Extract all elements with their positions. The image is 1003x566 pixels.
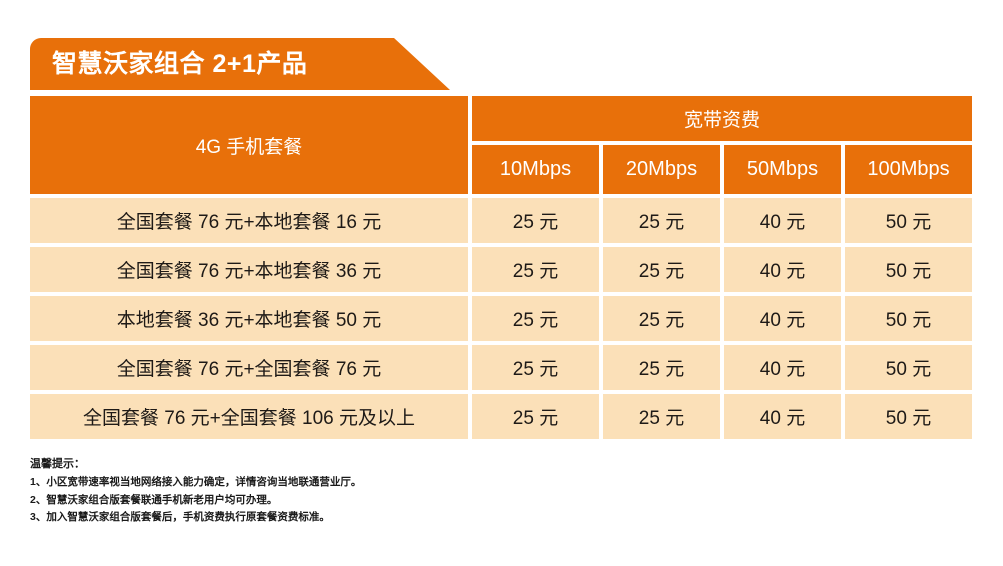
title-banner: 智慧沃家组合 2+1产品 [30, 38, 450, 90]
table-row: 本地套餐 36 元+本地套餐 50 元 [30, 296, 468, 341]
table-header-speed-50mbps: 50Mbps [724, 145, 841, 194]
table-cell-price: 25 元 [603, 345, 720, 390]
tariff-table: 4G 手机套餐 宽带资费 10Mbps 20Mbps 50Mbps 100Mbp… [30, 96, 972, 443]
table-row: 全国套餐 76 元+全国套餐 106 元及以上 [30, 394, 468, 439]
table-row: 全国套餐 76 元+本地套餐 36 元 [30, 247, 468, 292]
table-cell-price: 25 元 [603, 247, 720, 292]
table-cell-price: 25 元 [472, 247, 599, 292]
footnotes-title: 温馨提示： [30, 456, 730, 473]
table-header-broadband-group: 宽带资费 [472, 96, 972, 141]
table-cell-price: 40 元 [724, 345, 841, 390]
table-cell-price: 40 元 [724, 394, 841, 439]
table-cell-price: 50 元 [845, 247, 972, 292]
table-cell-price: 40 元 [724, 296, 841, 341]
table-cell-price: 25 元 [603, 198, 720, 243]
table-header-4g-package: 4G 手机套餐 [30, 96, 468, 194]
table-cell-price: 40 元 [724, 198, 841, 243]
table-cell-price: 25 元 [472, 296, 599, 341]
table-cell-price: 25 元 [472, 345, 599, 390]
footnote-item: 3、加入智慧沃家组合版套餐后，手机资费执行原套餐资费标准。 [30, 509, 730, 527]
table-cell-price: 50 元 [845, 345, 972, 390]
table-cell-price: 25 元 [603, 394, 720, 439]
product-tariff-page: 智慧沃家组合 2+1产品 4G 手机套餐 宽带资费 10Mbps 20Mbps … [0, 0, 1003, 566]
table-cell-price: 50 元 [845, 296, 972, 341]
table-cell-price: 25 元 [472, 198, 599, 243]
table-cell-price: 25 元 [603, 296, 720, 341]
table-row: 全国套餐 76 元+本地套餐 16 元 [30, 198, 468, 243]
table-row: 全国套餐 76 元+全国套餐 76 元 [30, 345, 468, 390]
table-header-speed-100mbps: 100Mbps [845, 145, 972, 194]
table-header-speed-20mbps: 20Mbps [603, 145, 720, 194]
table-cell-price: 25 元 [472, 394, 599, 439]
table-header-speed-10mbps: 10Mbps [472, 145, 599, 194]
page-title: 智慧沃家组合 2+1产品 [52, 38, 307, 90]
table-cell-price: 50 元 [845, 394, 972, 439]
footnote-item: 1、小区宽带速率视当地网络接入能力确定，详情咨询当地联通营业厅。 [30, 474, 730, 492]
footnote-item: 2、智慧沃家组合版套餐联通手机新老用户均可办理。 [30, 492, 730, 510]
table-cell-price: 50 元 [845, 198, 972, 243]
footnotes: 温馨提示： 1、小区宽带速率视当地网络接入能力确定，详情咨询当地联通营业厅。 2… [30, 456, 730, 527]
table-cell-price: 40 元 [724, 247, 841, 292]
